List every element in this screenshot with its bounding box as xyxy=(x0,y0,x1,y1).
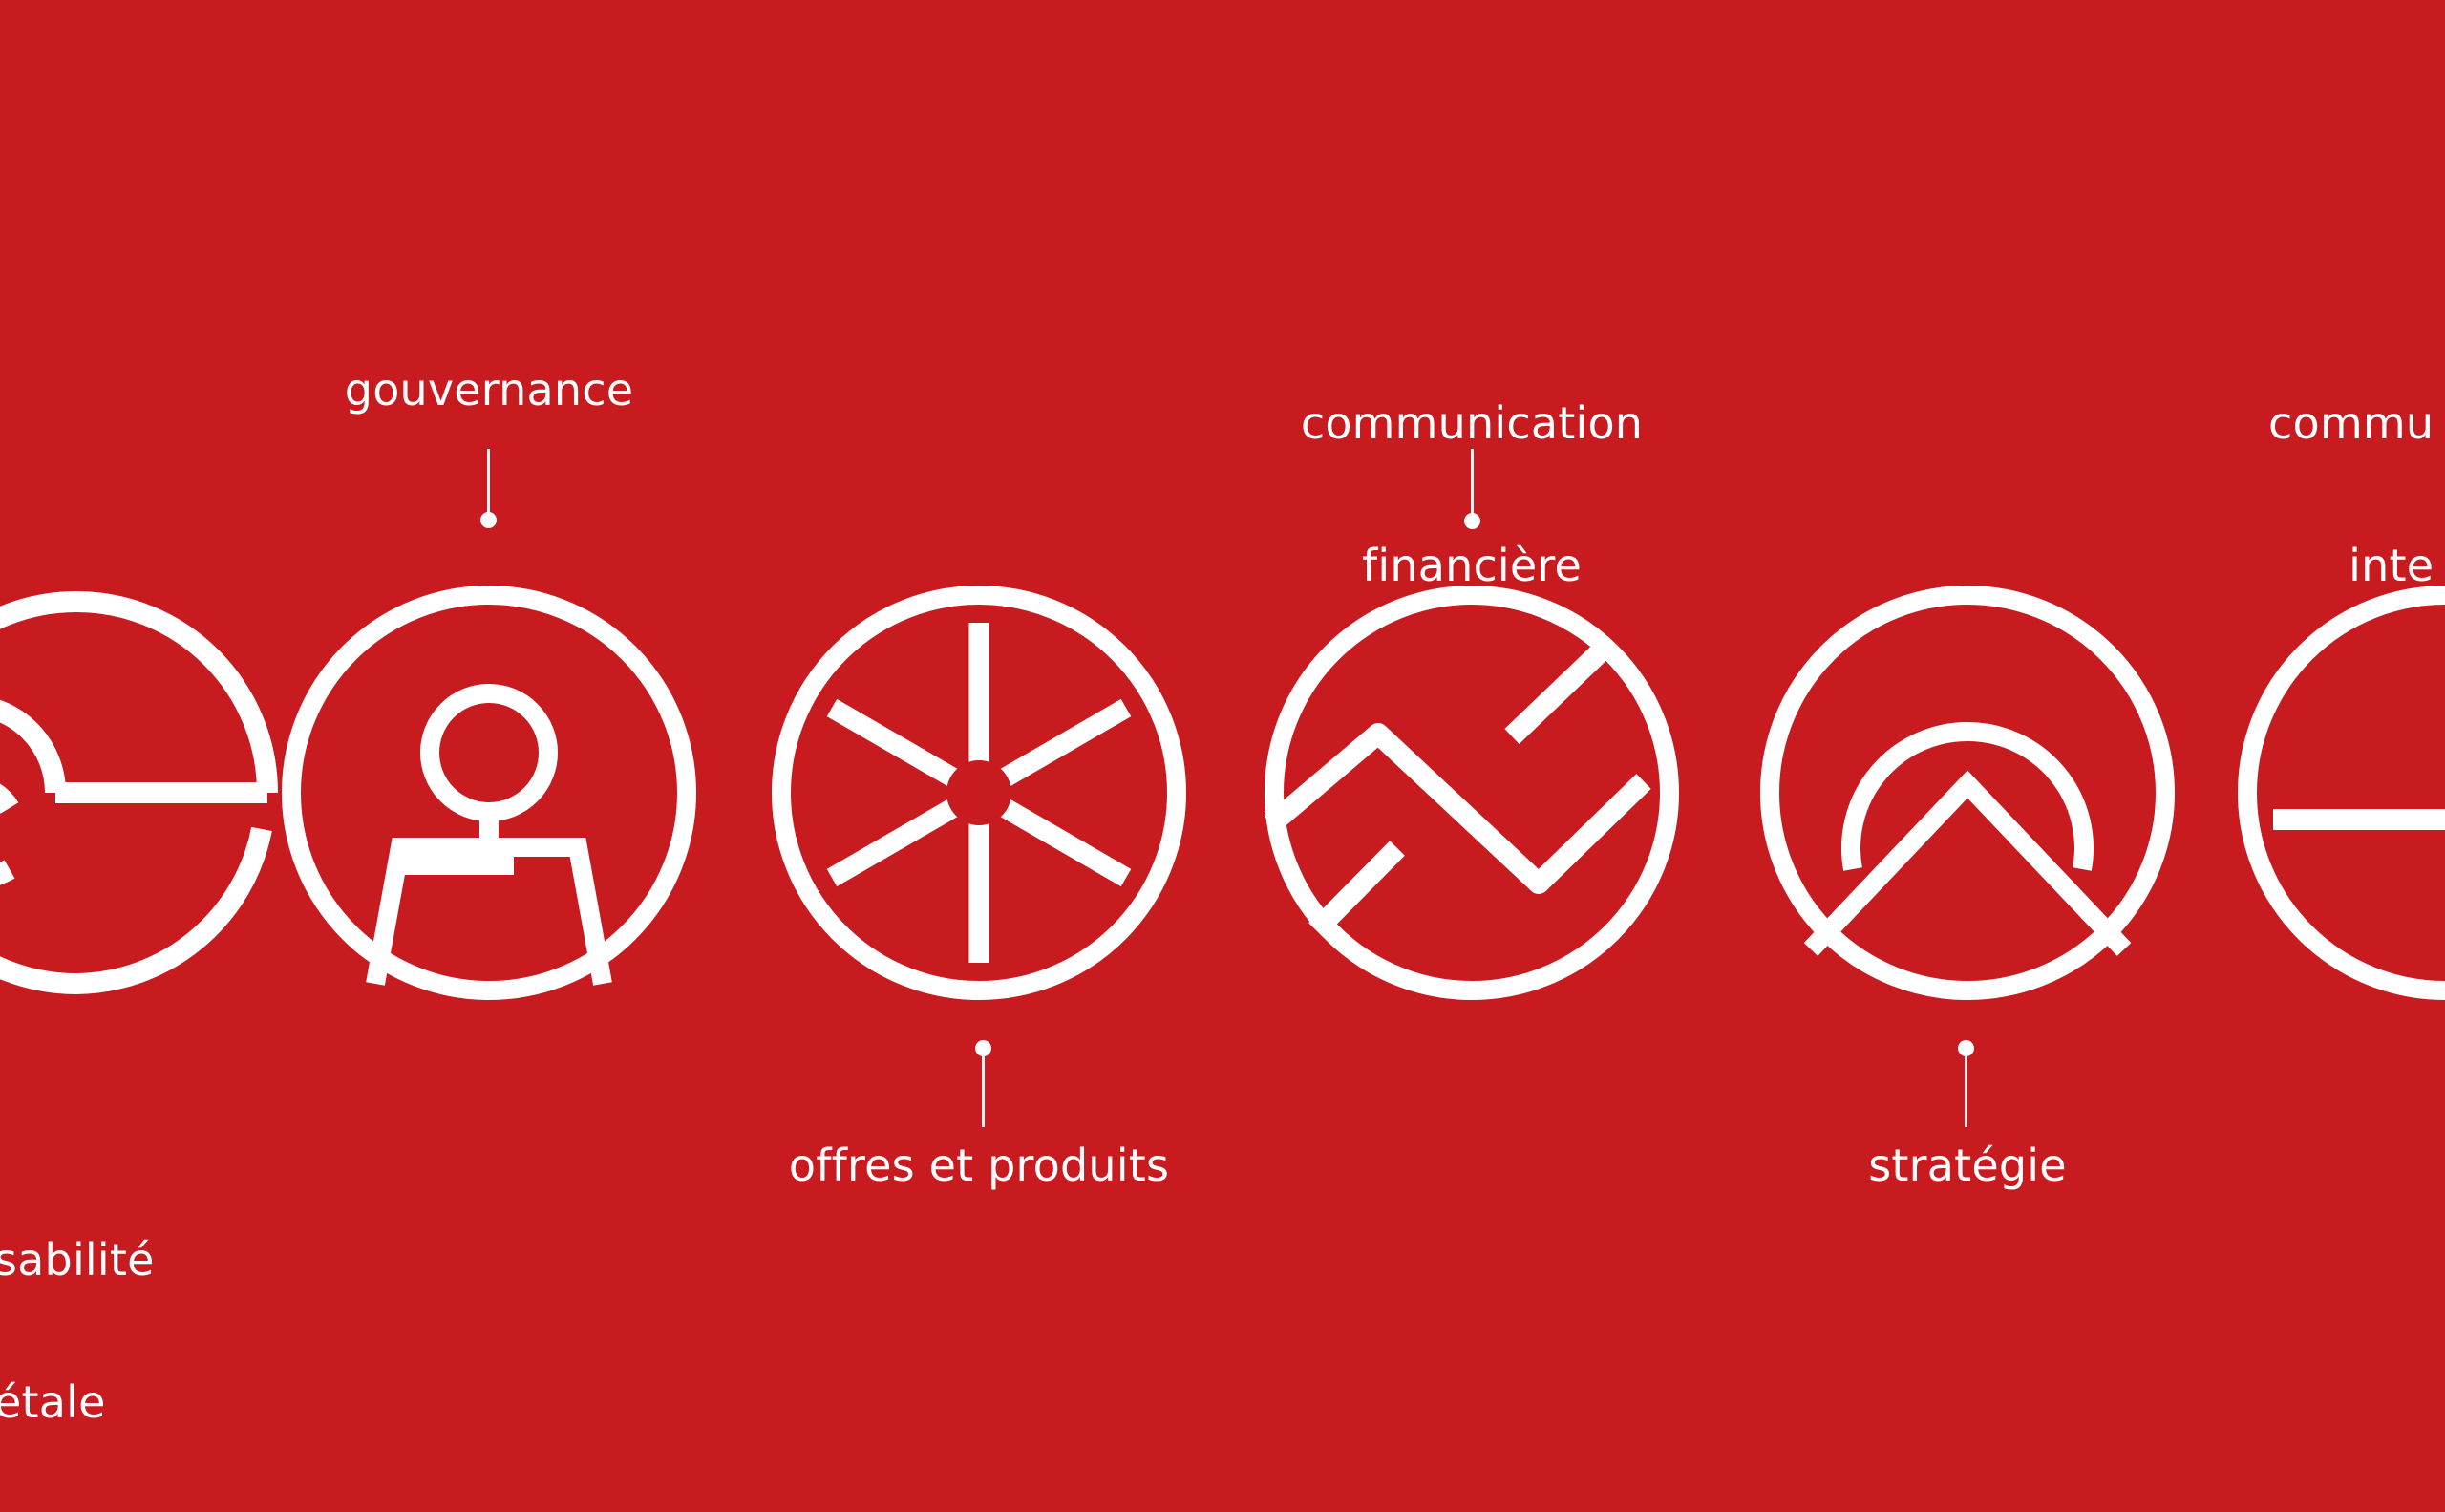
label-communication-interne-line2: inte xyxy=(2268,543,2434,590)
icon-responsabilite-societale[interactable] xyxy=(0,583,287,1003)
connector-line-strategie xyxy=(1965,1051,1967,1127)
label-communication-financiere: communication financière xyxy=(1301,306,1643,685)
infographic-canvas: gouvernance communication financière com… xyxy=(0,0,2445,1512)
label-strategie-line1: stratégie xyxy=(1868,1139,2067,1191)
label-communication-interne-line1: commu xyxy=(2268,400,2434,448)
label-responsabilite-societale-line2: étale xyxy=(0,1379,155,1427)
person-governance-icon xyxy=(279,583,699,1003)
label-responsabilite-societale: sabilité étale xyxy=(0,1142,155,1512)
label-communication-interne: commu inte xyxy=(2268,306,2434,685)
label-strategie: stratégie xyxy=(1868,1142,2067,1190)
label-offres-et-produits-line1: offres et produits xyxy=(789,1139,1169,1191)
label-gouvernance-line1: gouvernance xyxy=(345,364,633,415)
connector-line-offres-et-produits xyxy=(982,1051,985,1127)
connector-line-gouvernance xyxy=(487,449,490,519)
label-offres-et-produits: offres et produits xyxy=(789,1142,1169,1190)
icon-offres-et-produits[interactable] xyxy=(769,583,1189,1003)
icon-strategie[interactable] xyxy=(1757,583,2178,1003)
label-responsabilite-societale-line1: sabilité xyxy=(0,1237,155,1285)
asterisk-wheel-icon xyxy=(769,583,1189,1003)
mountain-peak-icon xyxy=(1757,583,2178,1003)
icon-gouvernance[interactable] xyxy=(279,583,699,1003)
spiral-target-icon xyxy=(0,583,287,1003)
label-gouvernance: gouvernance xyxy=(345,367,633,415)
label-communication-financiere-line1: communication xyxy=(1301,400,1643,448)
connector-dot-gouvernance xyxy=(480,512,497,528)
label-communication-financiere-line2: financière xyxy=(1301,543,1643,590)
